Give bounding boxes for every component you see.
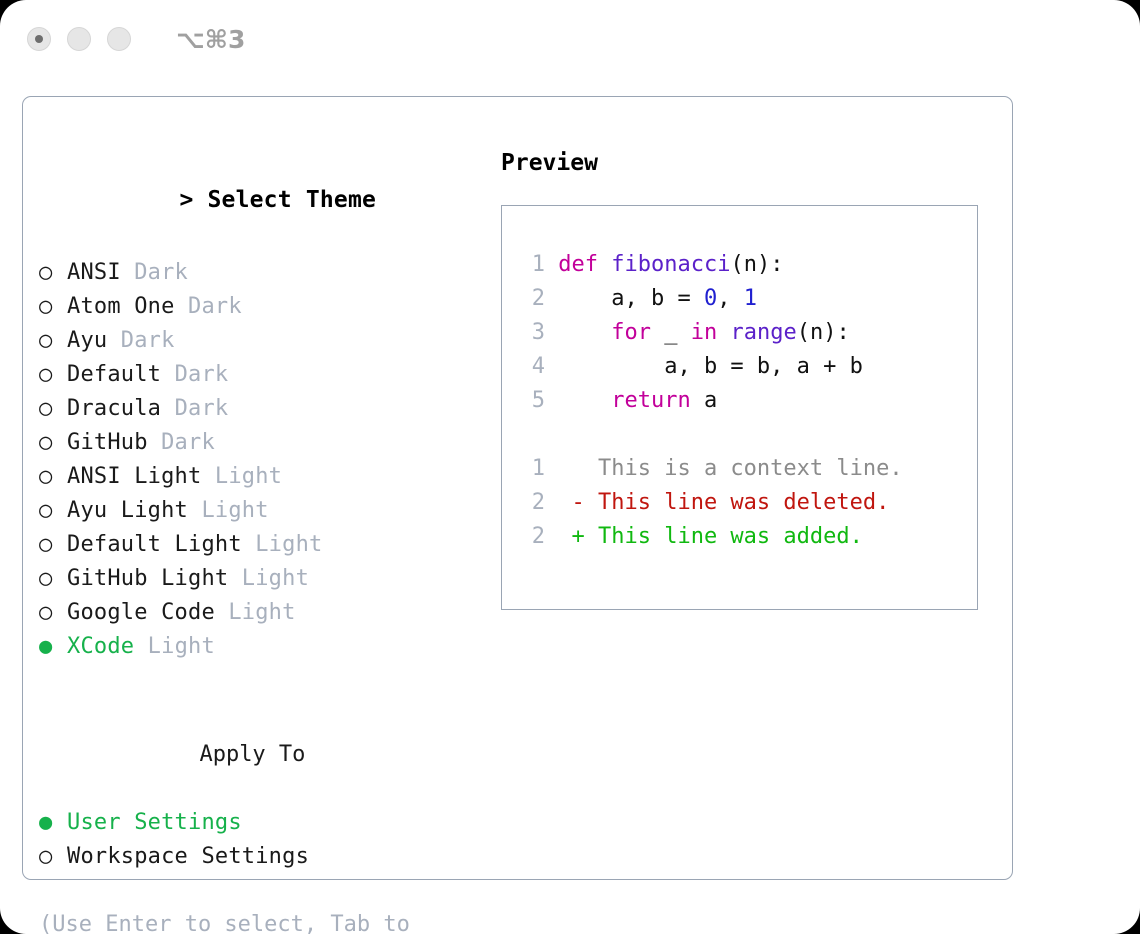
code-line: 3 for _ in range(n):: [519, 316, 903, 350]
preview-column: Preview 1 def fibonacci(n):2 a, b = 0, 1…: [501, 145, 1001, 610]
diff-sign: [545, 456, 598, 481]
theme-list-item[interactable]: ○GitHub Dark: [39, 426, 491, 460]
code-token: _: [651, 320, 691, 345]
theme-variant-label: Dark: [161, 362, 228, 387]
theme-list-item[interactable]: ●XCode Light: [39, 630, 491, 664]
theme-list-item[interactable]: ○ANSI Light Light: [39, 460, 491, 494]
code-token: ,: [717, 286, 744, 311]
theme-name-label: Ayu: [67, 328, 107, 353]
code-line-number: 1: [519, 248, 545, 282]
diff-line-number: 1: [519, 452, 545, 486]
theme-variant-label: Light: [215, 600, 296, 625]
apply-to-heading: Apply To: [39, 704, 491, 806]
app-window: ⌥⌘3 >Select Theme ○ANSI Dark○Atom One Da…: [0, 0, 1140, 934]
traffic-light-minimize-icon[interactable]: [67, 27, 91, 51]
theme-list-item[interactable]: ○Default Dark: [39, 358, 491, 392]
preview-box: 1 def fibonacci(n):2 a, b = 0, 13 for _ …: [501, 205, 978, 610]
code-token: (n):: [797, 320, 850, 345]
theme-list-item[interactable]: ○Ayu Dark: [39, 324, 491, 358]
theme-list-item[interactable]: ○Google Code Light: [39, 596, 491, 630]
theme-list-item[interactable]: ○Atom One Dark: [39, 290, 491, 324]
code-token: in: [691, 320, 718, 345]
keyboard-shortcut-label: ⌥⌘3: [176, 25, 245, 54]
theme-list-item[interactable]: ○ANSI Dark: [39, 256, 491, 290]
theme-list: ○ANSI Dark○Atom One Dark○Ayu Dark○Defaul…: [39, 256, 491, 664]
radio-unselected-icon[interactable]: ○: [39, 562, 67, 596]
title-bar: ⌥⌘3: [0, 0, 1140, 78]
radio-unselected-icon[interactable]: ○: [39, 426, 67, 460]
apply-to-item-label: Workspace Settings: [67, 844, 309, 869]
code-line-number: 5: [519, 384, 545, 418]
theme-list-item[interactable]: ○Dracula Dark: [39, 392, 491, 426]
code-token: [717, 320, 730, 345]
theme-variant-label: Dark: [107, 328, 174, 353]
traffic-light-zoom-icon[interactable]: [107, 27, 131, 51]
theme-variant-label: Light: [201, 464, 282, 489]
theme-name-label: XCode: [67, 634, 134, 659]
code-line: 4 a, b = b, a + b: [519, 350, 903, 384]
radio-unselected-icon[interactable]: ○: [39, 392, 67, 426]
apply-to-item[interactable]: ●User Settings: [39, 806, 491, 840]
code-line: 2 a, b = 0, 1: [519, 282, 903, 316]
theme-name-label: Dracula: [67, 396, 161, 421]
theme-variant-label: Light: [134, 634, 215, 659]
code-token: a, b =: [558, 286, 704, 311]
theme-name-label: Google Code: [67, 600, 215, 625]
theme-variant-label: Light: [228, 566, 309, 591]
apply-to-item[interactable]: ○Workspace Settings: [39, 840, 491, 874]
code-token: range: [730, 320, 796, 345]
select-theme-heading-label: Select Theme: [207, 187, 376, 213]
diff-line-number: 2: [519, 486, 545, 520]
theme-list-item[interactable]: ○Ayu Light Light: [39, 494, 491, 528]
apply-to-heading-label: Apply To: [199, 742, 305, 767]
diff-line: 1 This is a context line.: [519, 452, 903, 486]
theme-name-label: Atom One: [67, 294, 175, 319]
window-controls: [27, 27, 131, 51]
theme-variant-label: Dark: [175, 294, 242, 319]
code-blank-line: [519, 418, 903, 452]
keyboard-hint: (Use Enter to select, Tab to change focu…: [39, 908, 449, 934]
theme-selector-column: >Select Theme ○ANSI Dark○Atom One Dark○A…: [39, 145, 491, 934]
radio-unselected-icon[interactable]: ○: [39, 596, 67, 630]
theme-name-label: Ayu Light: [67, 498, 188, 523]
code-token: [558, 388, 611, 413]
code-token: a: [691, 388, 718, 413]
code-token: (n):: [730, 252, 783, 277]
diff-sign: -: [545, 490, 598, 515]
code-token: [558, 320, 611, 345]
radio-unselected-icon[interactable]: ○: [39, 324, 67, 358]
theme-variant-label: Dark: [121, 260, 188, 285]
code-token: 0: [704, 286, 717, 311]
radio-selected-icon[interactable]: ●: [39, 630, 67, 664]
theme-name-label: ANSI: [67, 260, 121, 285]
theme-variant-label: Light: [188, 498, 269, 523]
code-token: def: [558, 252, 611, 277]
apply-to-list: ●User Settings○Workspace Settings: [39, 806, 491, 874]
diff-line: 2 - This line was deleted.: [519, 486, 903, 520]
diff-text: This line was deleted.: [598, 490, 889, 515]
spacer: [39, 664, 491, 704]
theme-name-label: Default Light: [67, 532, 242, 557]
code-line: 5 return a: [519, 384, 903, 418]
theme-name-label: ANSI Light: [67, 464, 201, 489]
theme-variant-label: Light: [242, 532, 323, 557]
theme-name-label: GitHub Light: [67, 566, 228, 591]
radio-selected-icon[interactable]: ●: [39, 806, 67, 840]
radio-unselected-icon[interactable]: ○: [39, 256, 67, 290]
radio-unselected-icon[interactable]: ○: [39, 528, 67, 562]
apply-to-item-label: User Settings: [67, 810, 242, 835]
theme-list-item[interactable]: ○Default Light Light: [39, 528, 491, 562]
code-preview: 1 def fibonacci(n):2 a, b = 0, 13 for _ …: [519, 248, 903, 554]
radio-unselected-icon[interactable]: ○: [39, 840, 67, 874]
code-line-number: 2: [519, 282, 545, 316]
radio-unselected-icon[interactable]: ○: [39, 494, 67, 528]
theme-list-item[interactable]: ○GitHub Light Light: [39, 562, 491, 596]
diff-line: 2 + This line was added.: [519, 520, 903, 554]
radio-unselected-icon[interactable]: ○: [39, 460, 67, 494]
diff-text: This is a context line.: [598, 456, 903, 481]
diff-text: This line was added.: [598, 524, 863, 549]
traffic-light-close-icon[interactable]: [27, 27, 51, 51]
spacer: [39, 874, 491, 908]
code-token: fibonacci: [611, 252, 730, 277]
theme-name-label: GitHub: [67, 430, 148, 455]
radio-unselected-icon[interactable]: ○: [39, 290, 67, 324]
code-token: 1: [744, 286, 757, 311]
theme-variant-label: Dark: [161, 396, 228, 421]
diff-sign: +: [545, 524, 598, 549]
code-token: for: [611, 320, 651, 345]
code-line: 1 def fibonacci(n):: [519, 248, 903, 282]
select-theme-heading: >Select Theme: [39, 145, 491, 256]
code-line-number: 4: [519, 350, 545, 384]
theme-name-label: Default: [67, 362, 161, 387]
prompt-caret-icon: >: [179, 182, 207, 219]
theme-variant-label: Dark: [148, 430, 215, 455]
radio-unselected-icon[interactable]: ○: [39, 358, 67, 392]
diff-line-number: 2: [519, 520, 545, 554]
code-line-number: 3: [519, 316, 545, 350]
code-token: a, b = b, a + b: [558, 354, 863, 379]
code-token: return: [611, 388, 690, 413]
main-panel: >Select Theme ○ANSI Dark○Atom One Dark○A…: [22, 96, 1013, 880]
preview-heading: Preview: [501, 145, 1001, 182]
